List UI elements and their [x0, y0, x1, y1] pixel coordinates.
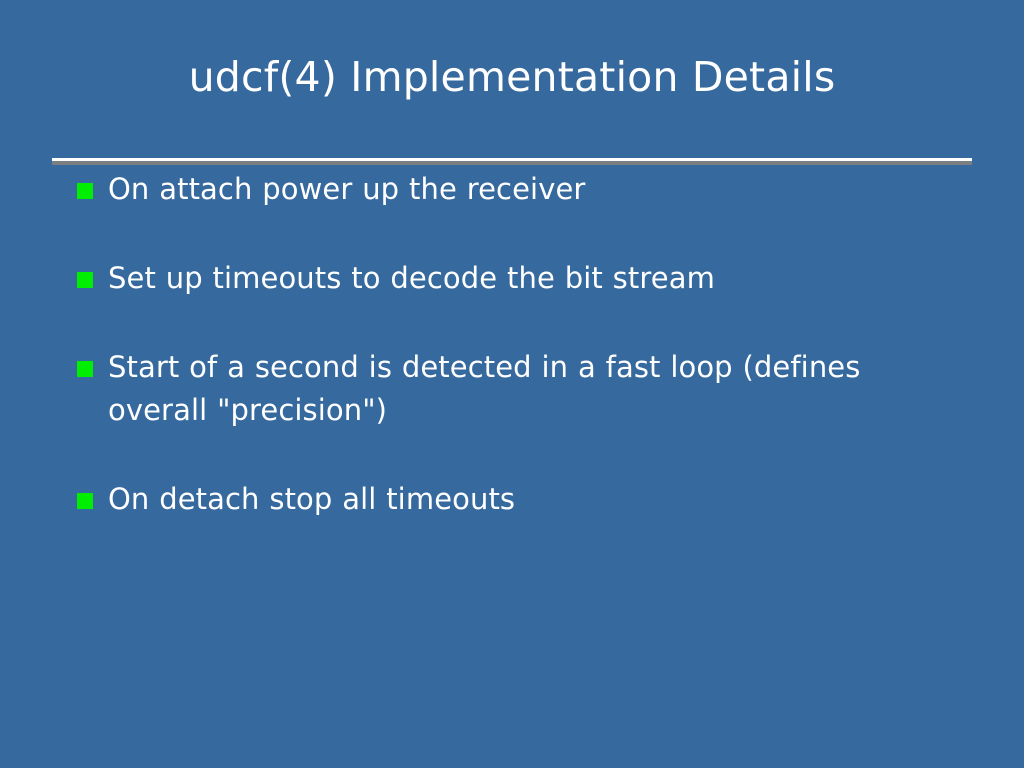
list-item-label: Start of a second is detected in a fast … — [108, 346, 926, 432]
list-item-label: On attach power up the receiver — [108, 168, 926, 211]
page-title: udcf(4) Implementation Details — [52, 48, 972, 106]
slide-title-area: udcf(4) Implementation Details — [0, 48, 1024, 120]
list-item-label: Set up timeouts to decode the bit stream — [108, 257, 926, 300]
list-item: Start of a second is detected in a fast … — [0, 346, 1024, 432]
list-item: On attach power up the receiver — [0, 168, 1024, 211]
slide-body: On attach power up the receiver Set up t… — [0, 168, 1024, 521]
list-item: On detach stop all timeouts — [0, 478, 1024, 521]
presentation-slide: udcf(4) Implementation Details On attach… — [0, 0, 1024, 768]
square-bullet-icon — [77, 361, 93, 377]
square-bullet-icon — [77, 183, 93, 199]
square-bullet-icon — [77, 272, 93, 288]
square-bullet-icon — [77, 493, 93, 509]
list-item-label: On detach stop all timeouts — [108, 478, 926, 521]
title-divider-shadow — [52, 161, 972, 165]
list-item: Set up timeouts to decode the bit stream — [0, 257, 1024, 300]
